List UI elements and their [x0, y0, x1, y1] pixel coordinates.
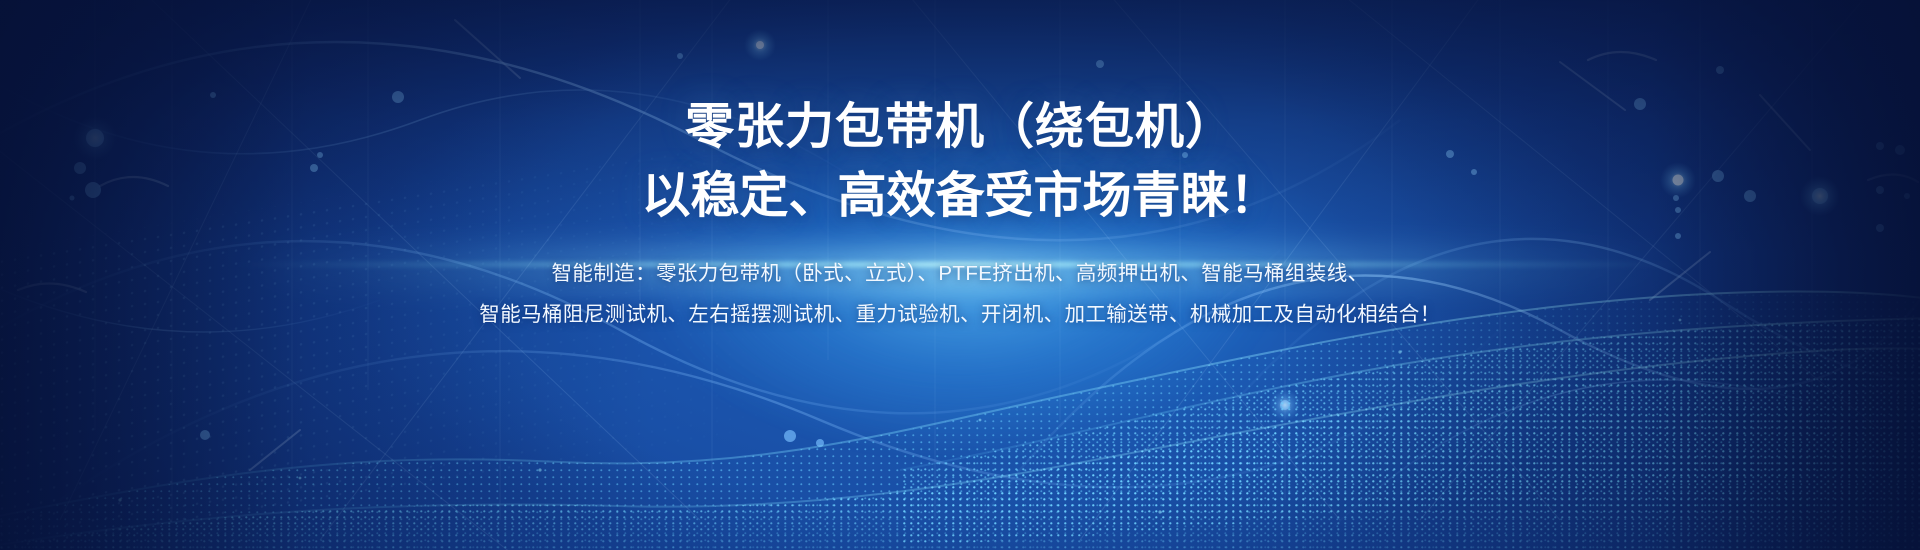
- subtitle-block: 智能制造：零张力包带机（卧式、立式）、PTFE挤出机、高频押出机、智能马桶组装线…: [479, 253, 1440, 335]
- promo-banner: 零张力包带机（绕包机） 以稳定、高效备受市场青睐！ 智能制造：零张力包带机（卧式…: [0, 0, 1920, 550]
- headline-line-2: 以稳定、高效备受市场青睐！: [641, 165, 1278, 228]
- subtitle-line-2: 智能马桶阻尼测试机、左右摇摆测试机、重力试验机、开闭机、加工输送带、机械加工及自…: [479, 294, 1440, 335]
- subtitle-line-1: 智能制造：零张力包带机（卧式、立式）、PTFE挤出机、高频押出机、智能马桶组装线…: [479, 253, 1440, 294]
- headline-line-1: 零张力包带机（绕包机）: [685, 96, 1235, 159]
- banner-content: 零张力包带机（绕包机） 以稳定、高效备受市场青睐！ 智能制造：零张力包带机（卧式…: [0, 0, 1920, 550]
